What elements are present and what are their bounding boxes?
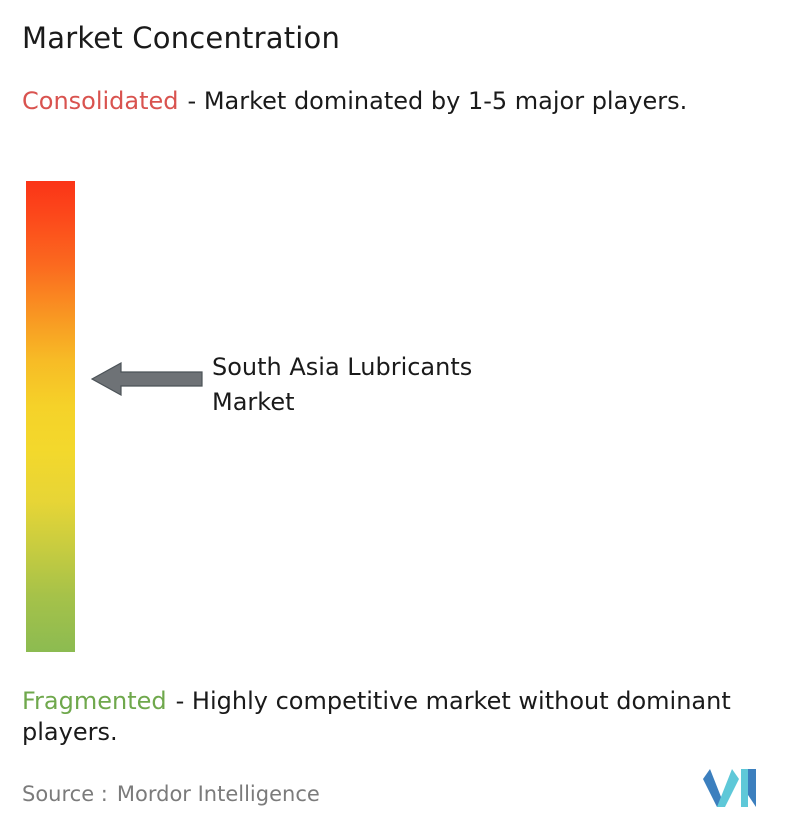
caption-consolidated: Consolidated- Market dominated by 1-5 ma… bbox=[22, 86, 774, 117]
keyword-fragmented: Fragmented bbox=[22, 687, 167, 715]
page-title: Market Concentration bbox=[22, 20, 340, 56]
logo-i-left-stroke bbox=[741, 769, 748, 807]
keyword-consolidated: Consolidated bbox=[22, 87, 179, 115]
mordor-intelligence-logo bbox=[703, 769, 757, 807]
market-position-arrow bbox=[91, 360, 203, 398]
market-concentration-figure: Market Concentration Consolidated- Marke… bbox=[0, 0, 796, 834]
source-label: Source : bbox=[22, 782, 108, 806]
annotation-label-line2: Market bbox=[212, 385, 612, 420]
logo-i-diagonal-stroke bbox=[748, 769, 756, 807]
logo-m-right-stroke bbox=[717, 769, 739, 807]
source-value: Mordor Intelligence bbox=[117, 782, 320, 806]
caption-consolidated-description: - Market dominated by 1-5 major players. bbox=[188, 87, 688, 115]
caption-fragmented: Fragmented- Highly competitive market wi… bbox=[22, 686, 790, 748]
left-arrow-icon bbox=[92, 363, 202, 395]
concentration-gradient-bar bbox=[26, 181, 75, 652]
annotation-label: South Asia Lubricants Market bbox=[212, 350, 612, 420]
annotation-label-line1: South Asia Lubricants bbox=[212, 350, 612, 385]
source-line: Source :Mordor Intelligence bbox=[22, 780, 320, 808]
